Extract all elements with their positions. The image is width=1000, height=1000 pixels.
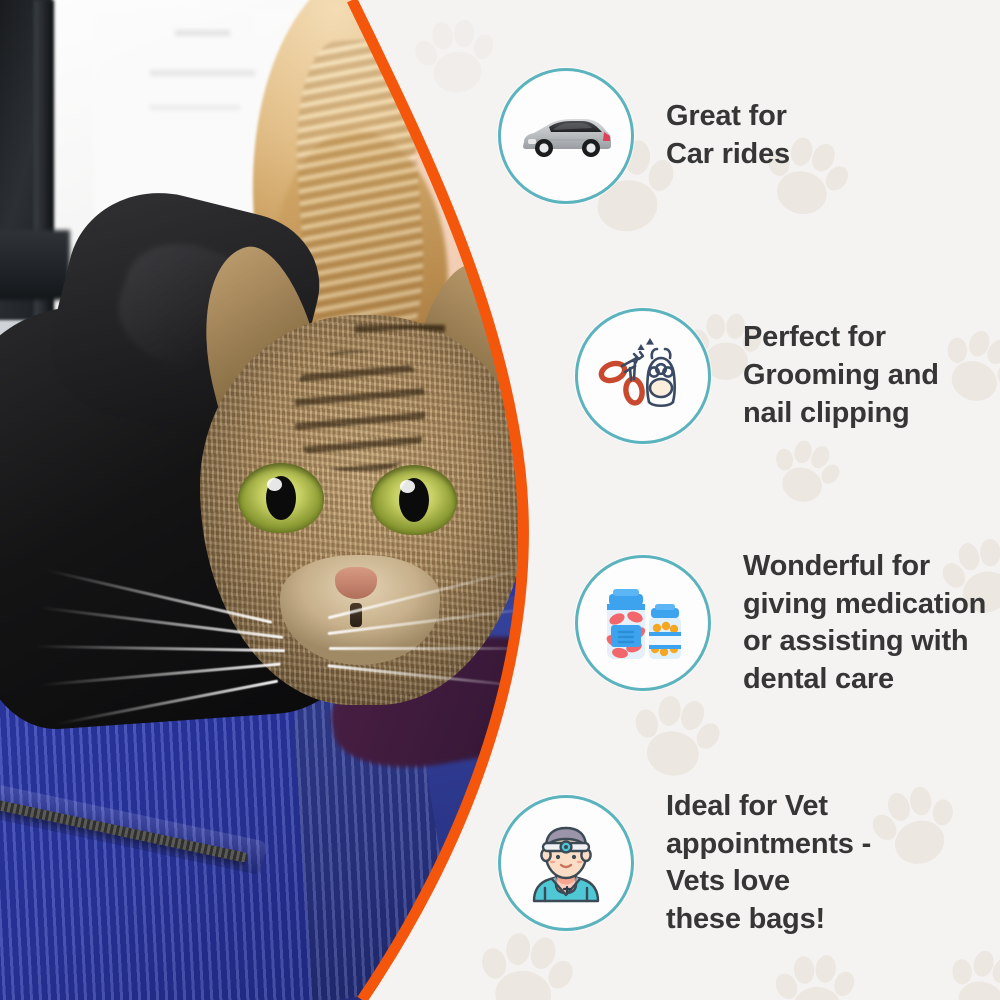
feature-badge bbox=[498, 68, 634, 204]
feature-badge bbox=[575, 555, 711, 691]
veterinarian-icon bbox=[520, 817, 612, 909]
feature-item-vet[interactable]: Ideal for Vet appointments - Vets love t… bbox=[498, 788, 871, 939]
feature-text: Ideal for Vet appointments - Vets love t… bbox=[666, 788, 871, 939]
feature-item-medication[interactable]: Wonderful for giving medication or assis… bbox=[575, 548, 986, 699]
feature-badge bbox=[575, 308, 711, 444]
pill-bottles-icon bbox=[595, 575, 691, 671]
feature-list: Great for Car rides bbox=[0, 0, 1000, 1000]
feature-item-grooming[interactable]: Perfect for Grooming and nail clipping bbox=[575, 308, 939, 444]
feature-text: Great for Car rides bbox=[666, 98, 790, 173]
feature-badge bbox=[498, 795, 634, 931]
infographic-canvas: Great for Car rides bbox=[0, 0, 1000, 1000]
car-icon bbox=[518, 106, 614, 166]
feature-text: Wonderful for giving medication or assis… bbox=[743, 548, 986, 699]
nail-clippers-paw-icon bbox=[595, 328, 691, 424]
feature-text: Perfect for Grooming and nail clipping bbox=[743, 319, 939, 432]
feature-item-car-rides[interactable]: Great for Car rides bbox=[498, 68, 790, 204]
